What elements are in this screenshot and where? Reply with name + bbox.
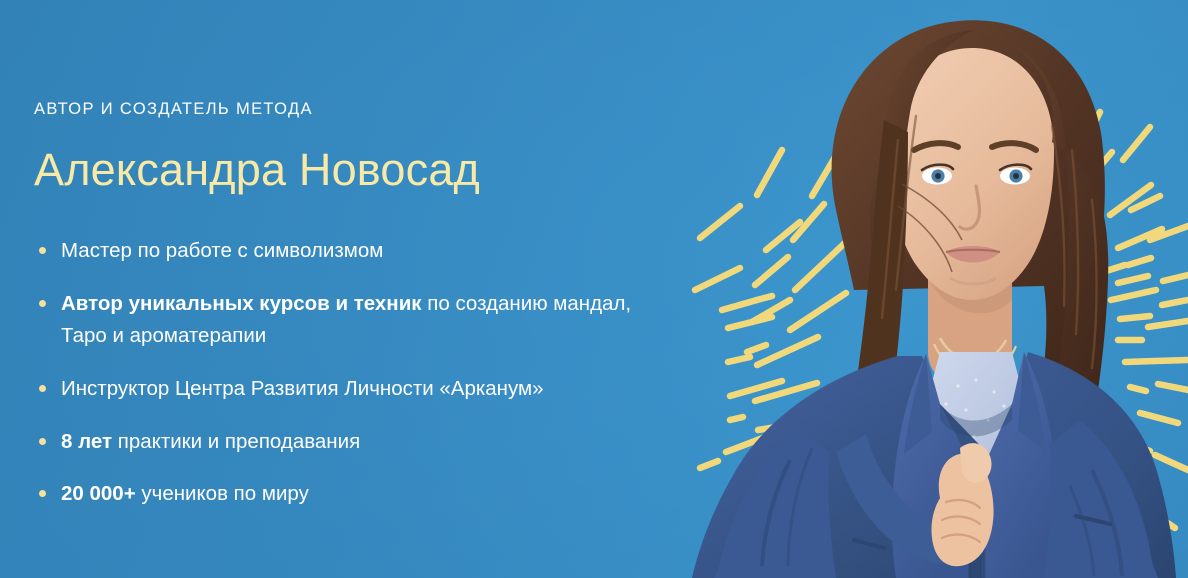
list-item: 8 лет практики и преподавания bbox=[34, 426, 674, 458]
hero-copy-column: АВТОР И СОЗДАТЕЛЬ МЕТОДА Александра Ново… bbox=[34, 100, 674, 510]
list-item-text: учеников по миру bbox=[136, 482, 309, 505]
list-item: Инструктор Центра Развития Личности «Арк… bbox=[34, 373, 674, 405]
list-item-text: Инструктор Центра Развития Личности «Арк… bbox=[61, 377, 544, 400]
list-item: Мастер по работе с символизмом bbox=[34, 235, 674, 267]
credentials-list: Мастер по работе с символизмом Автор уни… bbox=[34, 235, 674, 510]
list-item-bold: 8 лет bbox=[61, 430, 112, 453]
list-item-text: Мастер по работе с символизмом bbox=[61, 239, 383, 262]
list-item: Автор уникальных курсов и техник по созд… bbox=[34, 288, 674, 352]
hero-banner: АВТОР И СОЗДАТЕЛЬ МЕТОДА Александра Ново… bbox=[0, 0, 1188, 578]
list-item: 20 000+ учеников по миру bbox=[34, 478, 674, 510]
page-title: Александра Новосад bbox=[34, 146, 674, 194]
list-item-bold: 20 000+ bbox=[61, 482, 136, 505]
eyebrow-label: АВТОР И СОЗДАТЕЛЬ МЕТОДА bbox=[34, 100, 674, 120]
list-item-text: практики и преподавания bbox=[112, 430, 360, 453]
list-item-bold: Автор уникальных курсов и техник bbox=[61, 292, 422, 315]
